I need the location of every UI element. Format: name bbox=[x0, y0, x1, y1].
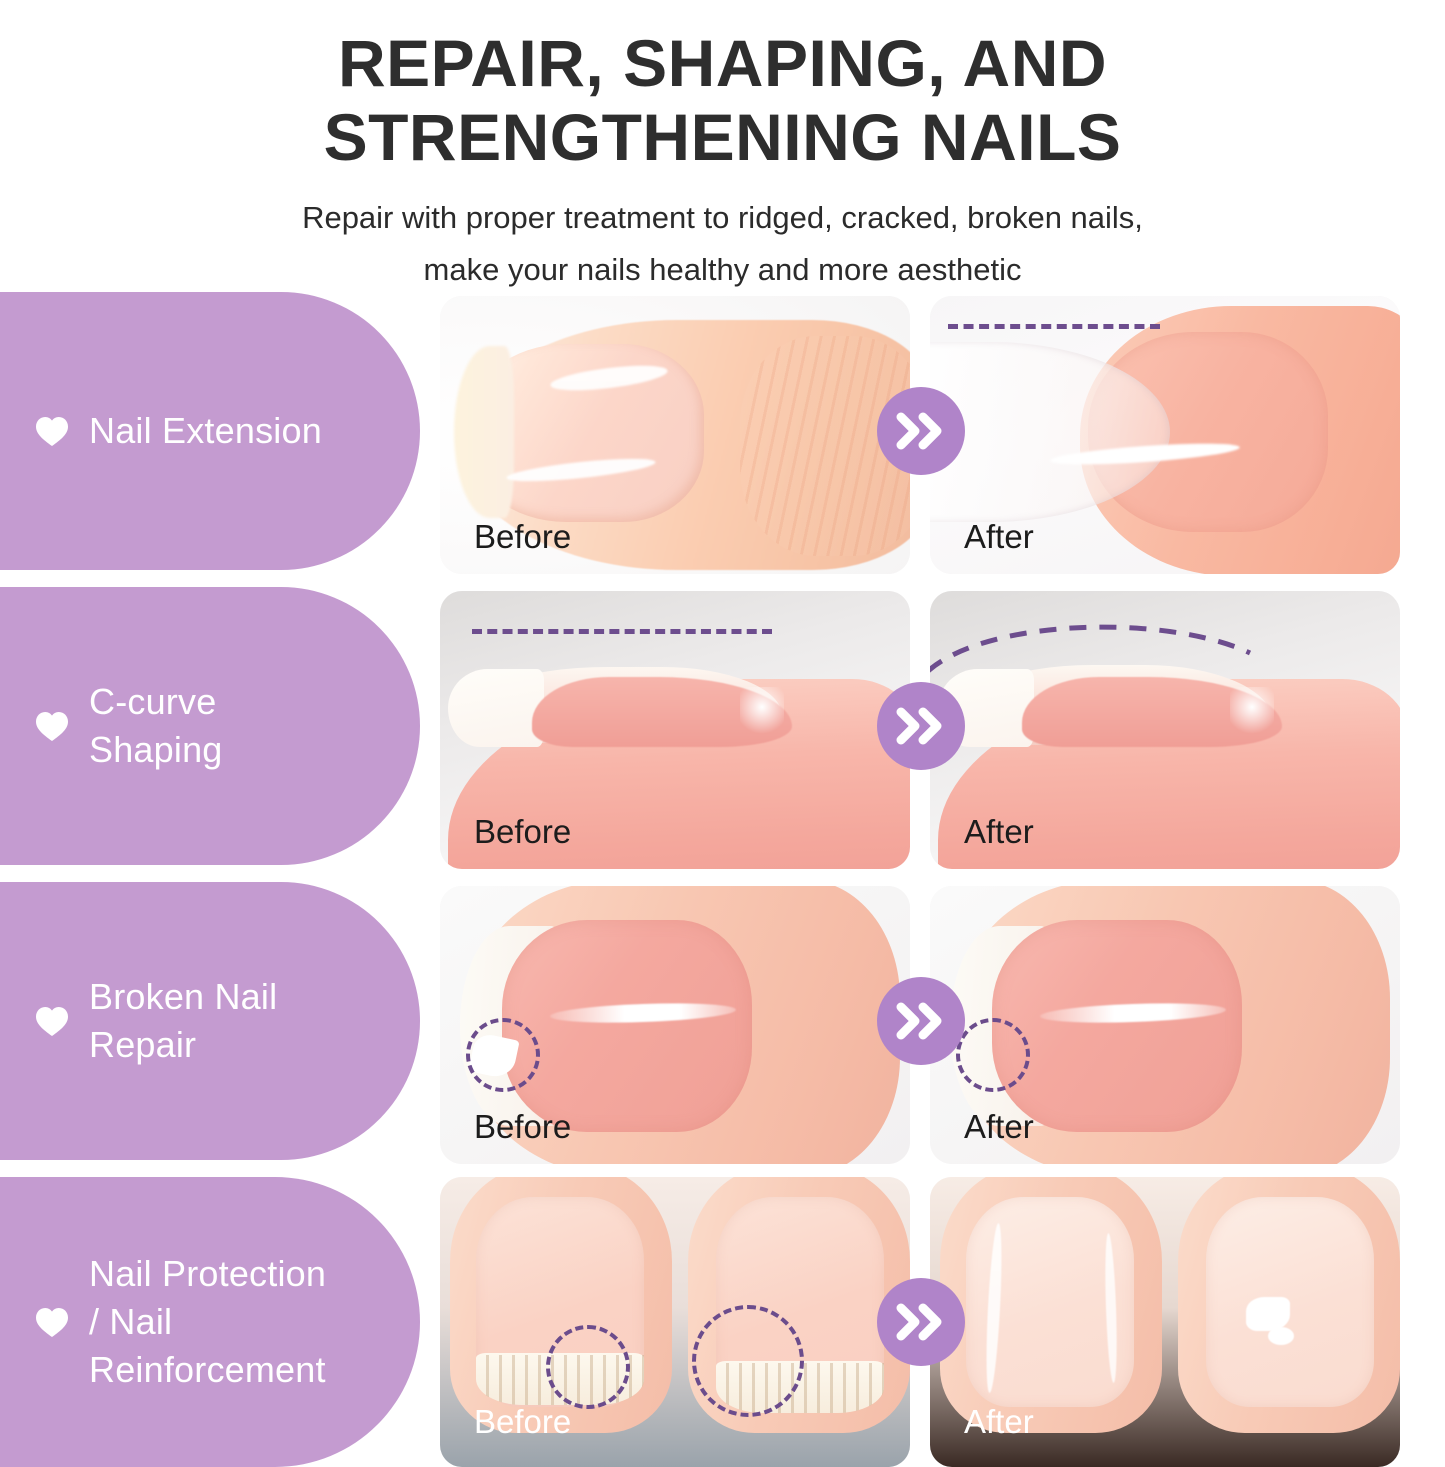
before-photo-nail-extension: Before bbox=[440, 296, 910, 574]
feature-label-line-2: Shaping bbox=[89, 726, 223, 774]
dashed-arc-line-marker bbox=[930, 609, 1260, 679]
before-photo-nail-protection: Before bbox=[440, 1177, 910, 1467]
before-photo-broken-nail-repair: Before bbox=[440, 886, 910, 1164]
feature-label-text: Nail Extension bbox=[89, 407, 322, 455]
feature-label-nail-extension[interactable]: Nail Extension bbox=[0, 292, 420, 570]
arrow-badge[interactable] bbox=[877, 977, 965, 1065]
feature-rows: Before After Nail Extension bbox=[0, 292, 1445, 1467]
arrow-badge[interactable] bbox=[877, 387, 965, 475]
dashed-straight-line-marker bbox=[472, 629, 772, 634]
after-photo-nail-protection: After bbox=[930, 1177, 1400, 1467]
feature-label-line-1: Broken Nail bbox=[89, 973, 277, 1021]
arrow-badge[interactable] bbox=[877, 1278, 965, 1366]
dashed-circle-marker bbox=[546, 1325, 630, 1409]
feature-label-line-3: Reinforcement bbox=[89, 1346, 326, 1394]
feature-label-broken-nail-repair[interactable]: Broken Nail Repair bbox=[0, 882, 420, 1160]
after-caption: After bbox=[964, 813, 1034, 851]
dashed-straight-line-marker bbox=[948, 324, 1160, 329]
heart-icon bbox=[35, 711, 69, 742]
page-title-line-2: STRENGTHENING NAILS bbox=[173, 100, 1273, 174]
heart-icon bbox=[35, 1006, 69, 1037]
feature-label-line-1: Nail Protection bbox=[89, 1250, 326, 1298]
before-caption: Before bbox=[474, 1403, 571, 1441]
before-photo-c-curve-shaping: Before bbox=[440, 591, 910, 869]
double-chevron-right-icon bbox=[895, 704, 947, 748]
feature-label-text: C-curve Shaping bbox=[89, 678, 223, 774]
after-photo-nail-extension: After bbox=[930, 296, 1400, 574]
feature-row-c-curve-shaping: Before After C-curve Shaping bbox=[0, 587, 1445, 865]
after-caption: After bbox=[964, 518, 1034, 556]
feature-row-broken-nail-repair: Before After Broken Nail Repair bbox=[0, 882, 1445, 1160]
after-caption: After bbox=[964, 1403, 1034, 1441]
heart-icon bbox=[35, 1307, 69, 1338]
page-title-line-1: REPAIR, SHAPING, AND bbox=[173, 26, 1273, 100]
page-subtitle-line-1: Repair with proper treatment to ridged, … bbox=[0, 192, 1445, 244]
feature-label-line-2: / Nail bbox=[89, 1298, 326, 1346]
page-subtitle: Repair with proper treatment to ridged, … bbox=[0, 192, 1445, 296]
feature-label-line-1: C-curve bbox=[89, 678, 223, 726]
feature-label-nail-protection[interactable]: Nail Protection / Nail Reinforcement bbox=[0, 1177, 420, 1467]
after-caption: After bbox=[964, 1108, 1034, 1146]
feature-row-nail-protection: Before After Nail Protection / bbox=[0, 1177, 1445, 1467]
feature-label-line-2: Repair bbox=[89, 1021, 277, 1069]
arrow-badge[interactable] bbox=[877, 682, 965, 770]
double-chevron-right-icon bbox=[895, 1300, 947, 1344]
after-photo-broken-nail-repair: After bbox=[930, 886, 1400, 1164]
heart-icon bbox=[35, 416, 69, 447]
before-caption: Before bbox=[474, 518, 571, 556]
header: REPAIR, SHAPING, AND STRENGTHENING NAILS… bbox=[0, 0, 1445, 296]
feature-label-text: Broken Nail Repair bbox=[89, 973, 277, 1069]
double-chevron-right-icon bbox=[895, 409, 947, 453]
feature-label-c-curve-shaping[interactable]: C-curve Shaping bbox=[0, 587, 420, 865]
page-title: REPAIR, SHAPING, AND STRENGTHENING NAILS bbox=[173, 26, 1273, 174]
before-caption: Before bbox=[474, 1108, 571, 1146]
feature-row-nail-extension: Before After Nail Extension bbox=[0, 292, 1445, 570]
page-subtitle-line-2: make your nails healthy and more aesthet… bbox=[0, 244, 1445, 296]
double-chevron-right-icon bbox=[895, 999, 947, 1043]
after-photo-c-curve-shaping: After bbox=[930, 591, 1400, 869]
dashed-circle-marker bbox=[692, 1305, 804, 1417]
dashed-circle-marker bbox=[956, 1018, 1030, 1092]
dashed-circle-marker bbox=[466, 1018, 540, 1092]
feature-label-text: Nail Protection / Nail Reinforcement bbox=[89, 1250, 326, 1394]
before-caption: Before bbox=[474, 813, 571, 851]
